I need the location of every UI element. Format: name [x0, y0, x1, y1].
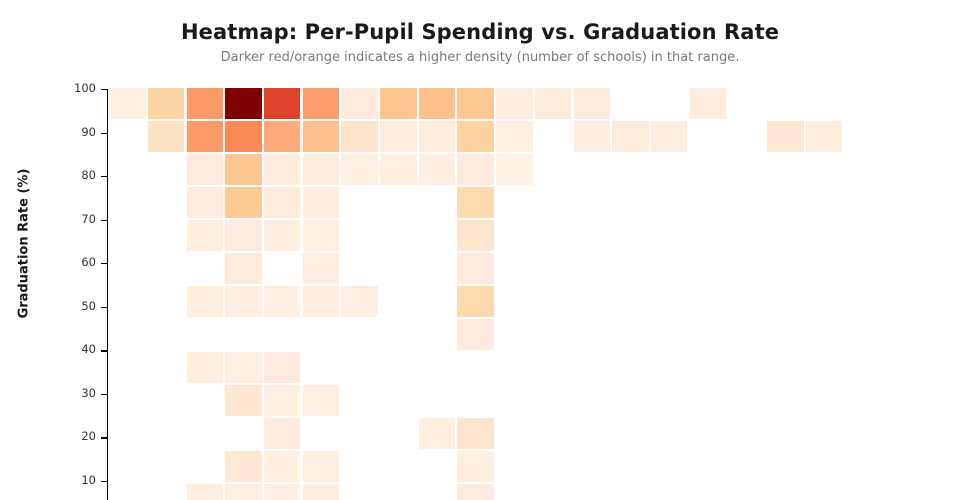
heatmap-cell[interactable] — [419, 418, 456, 449]
heatmap-cell[interactable] — [225, 154, 262, 185]
heatmap-cell[interactable] — [187, 484, 224, 500]
heatmap-cell[interactable] — [419, 88, 456, 119]
heatmap-cell[interactable] — [303, 253, 340, 284]
y-axis-tick-label: 20 — [56, 431, 96, 443]
heatmap-cell[interactable] — [264, 154, 301, 185]
heatmap-cell[interactable] — [690, 88, 727, 119]
heatmap-cell[interactable] — [187, 121, 224, 152]
y-axis-tick-label: 40 — [56, 344, 96, 356]
heatmap-cell[interactable] — [457, 451, 494, 482]
y-axis-title: Graduation Rate (%) — [17, 94, 32, 394]
y-axis-tick-label: 80 — [56, 170, 96, 182]
heatmap-cell[interactable] — [303, 154, 340, 185]
heatmap-cell[interactable] — [264, 286, 301, 317]
y-axis-tick — [101, 307, 107, 308]
heatmap-cell[interactable] — [574, 88, 611, 119]
y-axis-tick — [101, 394, 107, 395]
y-axis-tick — [101, 176, 107, 177]
heatmap-cell[interactable] — [303, 220, 340, 251]
heatmap-cell[interactable] — [457, 253, 494, 284]
heatmap-cell[interactable] — [457, 418, 494, 449]
heatmap-cell[interactable] — [225, 253, 262, 284]
heatmap-cell[interactable] — [225, 484, 262, 500]
heatmap-cell[interactable] — [264, 385, 301, 416]
heatmap-cell[interactable] — [225, 385, 262, 416]
heatmap-cell[interactable] — [225, 220, 262, 251]
heatmap-cell[interactable] — [225, 286, 262, 317]
heatmap-cell[interactable] — [264, 121, 301, 152]
y-axis-line — [107, 89, 108, 500]
heatmap-cell[interactable] — [225, 352, 262, 383]
heatmap-cell[interactable] — [187, 352, 224, 383]
heatmap-cell[interactable] — [457, 121, 494, 152]
heatmap-cell[interactable] — [264, 484, 301, 500]
heatmap-cell[interactable] — [419, 121, 456, 152]
heatmap-cell[interactable] — [651, 121, 688, 152]
heatmap-cell[interactable] — [187, 154, 224, 185]
heatmap-cell[interactable] — [187, 286, 224, 317]
heatmap-cell[interactable] — [535, 88, 572, 119]
heatmap-figure: Heatmap: Per-Pupil Spending vs. Graduati… — [0, 0, 960, 500]
y-axis-tick — [101, 437, 107, 438]
heatmap-cell[interactable] — [341, 154, 378, 185]
heatmap-cell[interactable] — [187, 220, 224, 251]
heatmap-cell[interactable] — [148, 121, 185, 152]
heatmap-cell[interactable] — [187, 187, 224, 218]
heatmap-cell[interactable] — [225, 88, 262, 119]
heatmap-cell[interactable] — [419, 154, 456, 185]
heatmap-cell[interactable] — [225, 451, 262, 482]
heatmap-cell[interactable] — [264, 352, 301, 383]
heatmap-cell[interactable] — [187, 88, 224, 119]
heatmap-cell[interactable] — [457, 187, 494, 218]
heatmap-cell[interactable] — [496, 154, 533, 185]
y-axis-tick-label: 10 — [56, 475, 96, 487]
y-axis-tick-label: 100 — [56, 83, 96, 95]
heatmap-cell[interactable] — [380, 154, 417, 185]
heatmap-cell[interactable] — [767, 121, 804, 152]
heatmap-cell[interactable] — [574, 121, 611, 152]
heatmap-cell[interactable] — [806, 121, 843, 152]
heatmap-cell[interactable] — [496, 121, 533, 152]
heatmap-cell[interactable] — [457, 319, 494, 350]
heatmap-cell[interactable] — [303, 451, 340, 482]
heatmap-plot-area[interactable] — [108, 87, 960, 500]
y-axis-tick — [101, 89, 107, 90]
heatmap-cell[interactable] — [341, 88, 378, 119]
page-title: Heatmap: Per-Pupil Spending vs. Graduati… — [0, 20, 960, 44]
y-axis-tick-label: 90 — [56, 127, 96, 139]
y-axis-tick — [101, 350, 107, 351]
heatmap-cell[interactable] — [380, 121, 417, 152]
y-axis-tick — [101, 133, 107, 134]
heatmap-cell[interactable] — [264, 220, 301, 251]
heatmap-cell[interactable] — [457, 484, 494, 500]
heatmap-cell[interactable] — [264, 187, 301, 218]
heatmap-cell[interactable] — [264, 418, 301, 449]
heatmap-cell[interactable] — [109, 88, 146, 119]
heatmap-cell[interactable] — [225, 121, 262, 152]
heatmap-cell[interactable] — [225, 187, 262, 218]
heatmap-cell[interactable] — [341, 121, 378, 152]
heatmap-cell[interactable] — [457, 286, 494, 317]
y-axis-tick — [101, 220, 107, 221]
heatmap-cell[interactable] — [148, 88, 185, 119]
heatmap-cell[interactable] — [303, 88, 340, 119]
y-axis-tick-label: 30 — [56, 388, 96, 400]
heatmap-cell[interactable] — [380, 88, 417, 119]
y-axis-tick — [101, 481, 107, 482]
heatmap-cell[interactable] — [264, 451, 301, 482]
chart-subtitle: Darker red/orange indicates a higher den… — [0, 50, 960, 65]
heatmap-cell[interactable] — [303, 385, 340, 416]
heatmap-cell[interactable] — [303, 286, 340, 317]
heatmap-cell[interactable] — [303, 484, 340, 500]
heatmap-cell[interactable] — [496, 88, 533, 119]
heatmap-cell[interactable] — [303, 187, 340, 218]
heatmap-cell[interactable] — [341, 286, 378, 317]
heatmap-cell[interactable] — [457, 154, 494, 185]
y-axis-tick-label: 50 — [56, 301, 96, 313]
heatmap-cell[interactable] — [457, 88, 494, 119]
heatmap-cell[interactable] — [264, 88, 301, 119]
heatmap-cell[interactable] — [303, 121, 340, 152]
heatmap-cell[interactable] — [612, 121, 649, 152]
y-axis-tick-label: 60 — [56, 257, 96, 269]
heatmap-cell[interactable] — [457, 220, 494, 251]
y-axis-tick — [101, 263, 107, 264]
y-axis-tick-label: 70 — [56, 214, 96, 226]
